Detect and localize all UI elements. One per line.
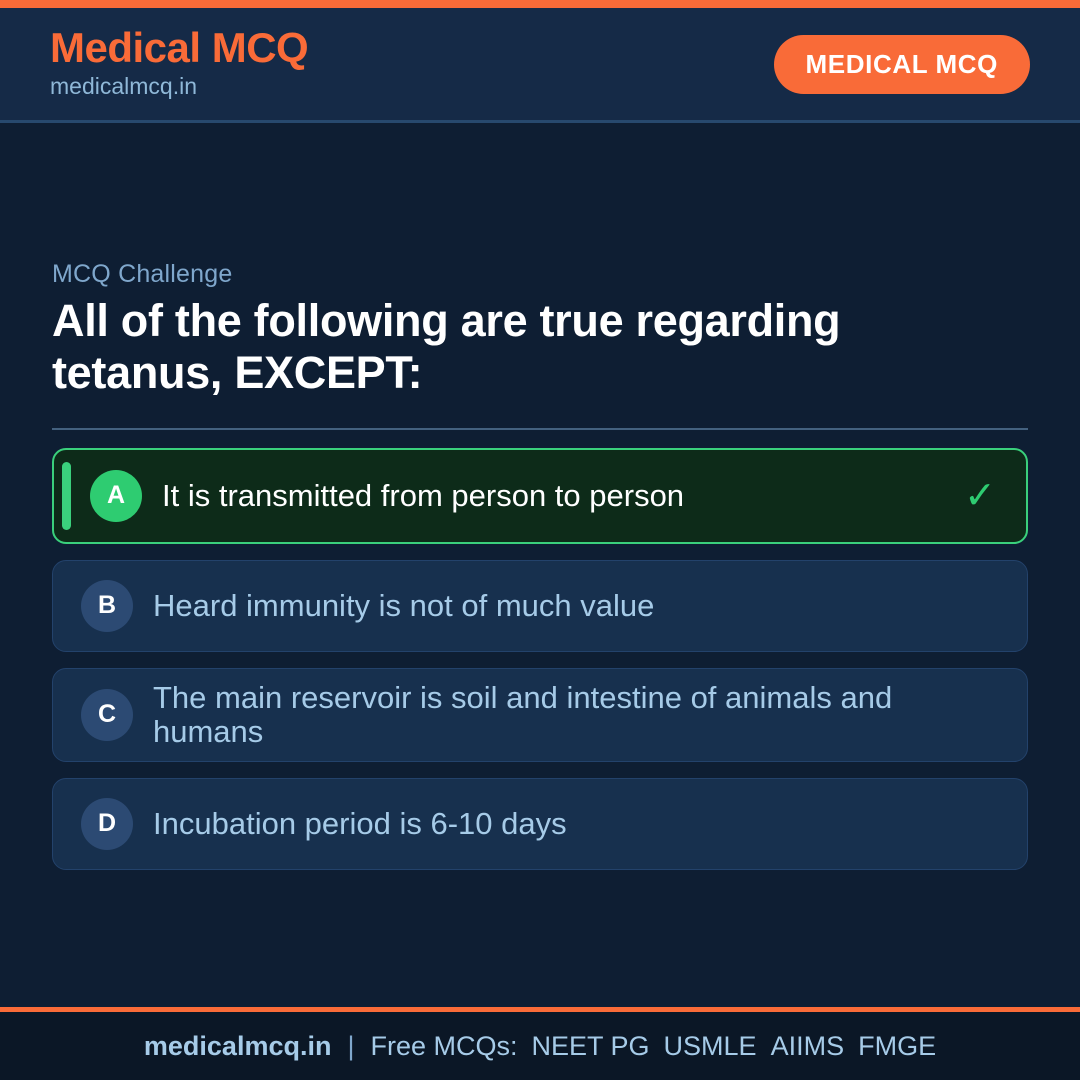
- option-text: Heard immunity is not of much value: [153, 589, 959, 623]
- option-text: The main reservoir is soil and intestine…: [153, 681, 959, 749]
- correct-check-icon: ✓: [958, 473, 1002, 518]
- option-c[interactable]: CThe main reservoir is soil and intestin…: [52, 668, 1028, 762]
- option-a[interactable]: AIt is transmitted from person to person…: [52, 448, 1028, 544]
- brand-title: Medical MCQ: [50, 26, 308, 70]
- top-accent-bar: [0, 0, 1080, 8]
- footer-exam-list: NEET PGUSMLEAIIMSFMGE: [518, 1031, 937, 1062]
- footer-separator: |: [331, 1031, 370, 1062]
- footer-exam-aiims[interactable]: AIIMS: [757, 1031, 845, 1061]
- option-letter-badge: C: [81, 689, 133, 741]
- option-letter-badge: D: [81, 798, 133, 850]
- eyebrow-label: MCQ Challenge: [52, 260, 1028, 289]
- footer-exam-neet-pg[interactable]: NEET PG: [518, 1031, 650, 1061]
- option-letter-badge: A: [90, 470, 142, 522]
- question-text: All of the following are true regarding …: [52, 295, 922, 399]
- footer-label: Free MCQs:: [370, 1031, 517, 1062]
- option-b[interactable]: BHeard immunity is not of much value: [52, 560, 1028, 652]
- options-list: AIt is transmitted from person to person…: [52, 448, 1028, 870]
- mcq-poster: Medical MCQ medicalmcq.in MEDICAL MCQ MC…: [0, 0, 1080, 1080]
- option-text: It is transmitted from person to person: [162, 479, 958, 513]
- header-badge: MEDICAL MCQ: [774, 35, 1030, 94]
- footer-exam-usmle[interactable]: USMLE: [650, 1031, 757, 1061]
- brand-block: Medical MCQ medicalmcq.in: [50, 26, 308, 102]
- correct-accent-bar: [62, 462, 71, 530]
- footer-site: medicalmcq.in: [144, 1031, 332, 1062]
- option-d[interactable]: DIncubation period is 6-10 days: [52, 778, 1028, 870]
- brand-url: medicalmcq.in: [50, 72, 308, 102]
- section-divider: [52, 428, 1028, 430]
- page-footer: medicalmcq.in | Free MCQs: NEET PGUSMLEA…: [0, 1012, 1080, 1080]
- main-content: MCQ Challenge All of the following are t…: [0, 123, 1080, 1007]
- option-text: Incubation period is 6-10 days: [153, 807, 959, 841]
- option-letter-badge: B: [81, 580, 133, 632]
- footer-exam-fmge[interactable]: FMGE: [844, 1031, 936, 1061]
- page-header: Medical MCQ medicalmcq.in MEDICAL MCQ: [0, 8, 1080, 123]
